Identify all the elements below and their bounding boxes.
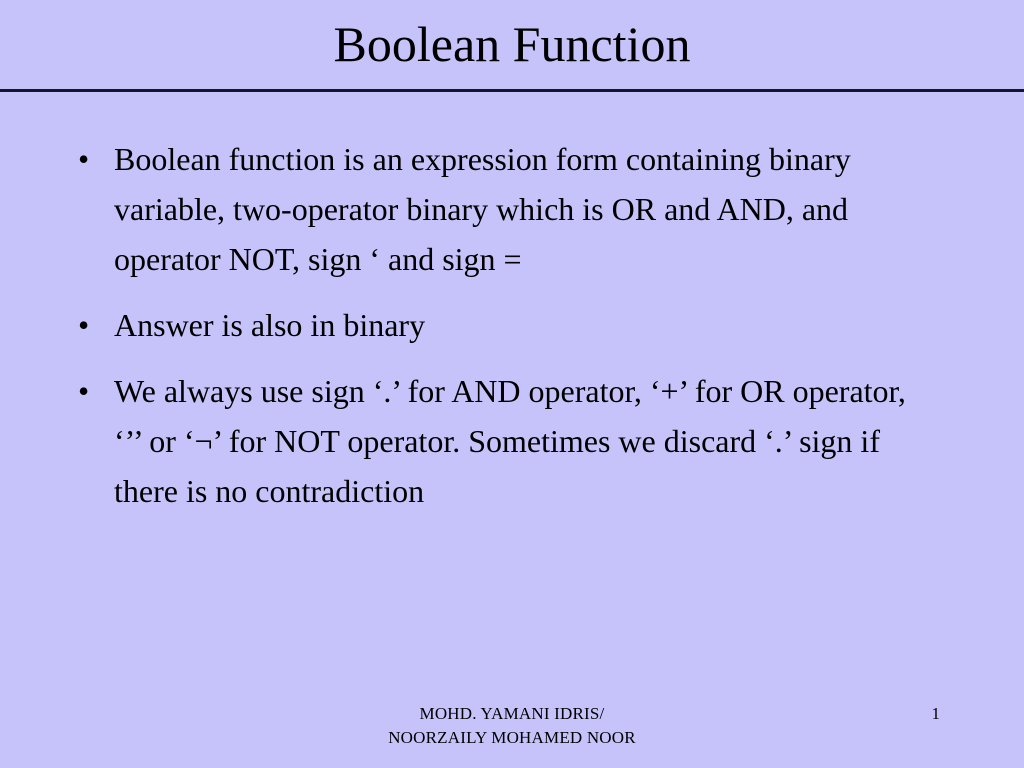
- title-divider-rule: [0, 89, 1024, 92]
- bullet-marker-icon: •: [78, 300, 100, 350]
- bullet-text: We always use sign ‘.’ for AND operator,…: [114, 366, 940, 516]
- slide-title-area: Boolean Function: [0, 0, 1024, 88]
- page-title: Boolean Function: [334, 18, 691, 71]
- bullet-item: • Boolean function is an expression form…: [72, 134, 940, 284]
- bullet-item: • Answer is also in binary: [72, 300, 940, 350]
- footer-credit: MOHD. YAMANI IDRIS/ NOORZAILY MOHAMED NO…: [0, 702, 1024, 750]
- bullet-marker-icon: •: [78, 134, 100, 184]
- footer-credit-line-1: MOHD. YAMANI IDRIS/: [0, 702, 1024, 726]
- footer-credit-line-2: NOORZAILY MOHAMED NOOR: [0, 726, 1024, 750]
- page-number: 1: [932, 702, 941, 726]
- bullet-marker-icon: •: [78, 366, 100, 416]
- slide-footer: MOHD. YAMANI IDRIS/ NOORZAILY MOHAMED NO…: [0, 702, 1024, 762]
- bullet-text: Answer is also in binary: [114, 300, 940, 350]
- presentation-slide: Boolean Function • Boolean function is a…: [0, 0, 1024, 768]
- bullet-item: • We always use sign ‘.’ for AND operato…: [72, 366, 940, 516]
- slide-body: • Boolean function is an expression form…: [72, 134, 940, 516]
- bullet-text: Boolean function is an expression form c…: [114, 134, 940, 284]
